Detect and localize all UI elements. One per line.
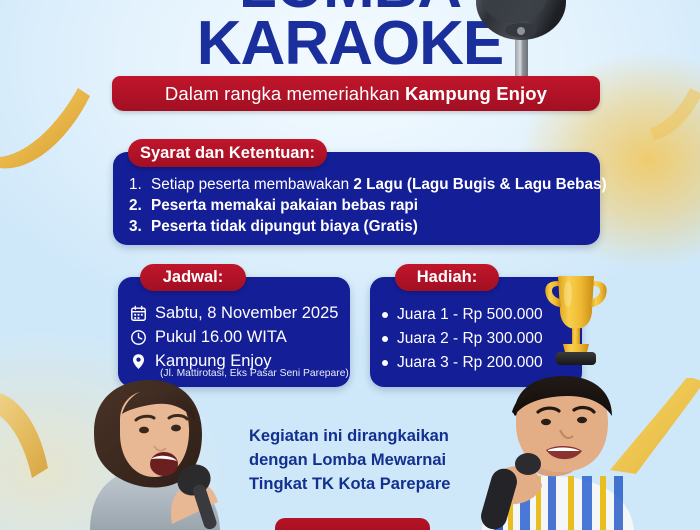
requirement-item: 3. Peserta tidak dipungut biaya (Gratis) bbox=[129, 216, 607, 237]
note-line: Tingkat TK Kota Parepare bbox=[249, 472, 479, 496]
note-line: Kegiatan ini dirangkaikan bbox=[249, 424, 479, 448]
schedule-address: (Jl. Mattirotasi, Eks Pasar Seni Parepar… bbox=[160, 368, 349, 379]
gold-ribbon-confetti-left bbox=[0, 62, 124, 192]
subtitle-prefix: Dalam rangka memeriahkan bbox=[165, 83, 405, 104]
bullet-icon bbox=[382, 360, 388, 366]
gold-ribbon-confetti-right bbox=[600, 378, 700, 518]
prizes-heading-pill: Hadiah: bbox=[395, 264, 499, 291]
schedule-row-time: Pukul 16.00 WITA bbox=[130, 325, 338, 349]
prize-item: Juara 3 - Rp 200.000 bbox=[382, 351, 543, 375]
bottom-cta-pill bbox=[275, 518, 430, 530]
requirement-text: Setiap peserta membawakan 2 Lagu (Lagu B… bbox=[151, 174, 607, 195]
prize-item: Juara 2 - Rp 300.000 bbox=[382, 327, 543, 351]
poster-title: LOMBA KARAOKE bbox=[0, 0, 700, 72]
schedule-row-date: Sabtu, 8 November 2025 bbox=[130, 301, 338, 325]
requirement-number: 2. bbox=[129, 195, 151, 216]
karaoke-competition-poster: LOMBA KARAOKE Dalam rangka memeriahkan K… bbox=[0, 0, 700, 530]
requirement-number: 1. bbox=[129, 174, 151, 195]
requirements-list: 1. Setiap peserta membawakan 2 Lagu (Lag… bbox=[129, 174, 607, 237]
requirements-heading-pill: Syarat dan Ketentuan: bbox=[128, 139, 327, 167]
requirement-text: Peserta memakai pakaian bebas rapi bbox=[151, 195, 418, 216]
prize-text: Juara 3 - Rp 200.000 bbox=[397, 354, 543, 372]
schedule-heading: Jadwal: bbox=[163, 268, 224, 287]
woman-singing-photo bbox=[72, 376, 252, 530]
schedule-date-text: Sabtu, 8 November 2025 bbox=[155, 304, 338, 323]
requirement-item: 1. Setiap peserta membawakan 2 Lagu (Lag… bbox=[129, 174, 607, 195]
location-pin-icon bbox=[130, 353, 147, 370]
prize-item: Juara 1 - Rp 500.000 bbox=[382, 303, 543, 327]
schedule-list: Sabtu, 8 November 2025 Pukul 16.00 WITA … bbox=[130, 301, 338, 373]
gold-trophy-icon bbox=[538, 266, 614, 372]
bullet-icon bbox=[382, 336, 388, 342]
prize-text: Juara 2 - Rp 300.000 bbox=[397, 330, 543, 348]
subtitle-banner: Dalam rangka memeriahkan Kampung Enjoy bbox=[112, 76, 600, 111]
clock-icon bbox=[130, 329, 147, 346]
bullet-icon bbox=[382, 312, 388, 318]
requirements-heading: Syarat dan Ketentuan: bbox=[140, 144, 315, 163]
schedule-time-text: Pukul 16.00 WITA bbox=[155, 328, 287, 347]
prize-text: Juara 1 - Rp 500.000 bbox=[397, 306, 543, 324]
bottom-note: Kegiatan ini dirangkaikan dengan Lomba M… bbox=[249, 424, 479, 496]
man-singing-photo bbox=[472, 372, 658, 530]
gold-ribbon-confetti-top-right bbox=[640, 84, 700, 154]
prizes-heading: Hadiah: bbox=[417, 268, 478, 287]
requirement-number: 3. bbox=[129, 216, 151, 237]
requirement-item: 2. Peserta memakai pakaian bebas rapi bbox=[129, 195, 607, 216]
requirement-text: Peserta tidak dipungut biaya (Gratis) bbox=[151, 216, 418, 237]
calendar-icon bbox=[130, 305, 147, 322]
gold-ribbon-confetti-bottom-left bbox=[0, 382, 96, 530]
note-line: dengan Lomba Mewarnai bbox=[249, 448, 479, 472]
schedule-heading-pill: Jadwal: bbox=[140, 264, 246, 291]
prizes-list: Juara 1 - Rp 500.000 Juara 2 - Rp 300.00… bbox=[382, 303, 543, 375]
title-line-karaoke: KARAOKE bbox=[0, 15, 700, 72]
subtitle-highlight: Kampung Enjoy bbox=[405, 83, 547, 104]
